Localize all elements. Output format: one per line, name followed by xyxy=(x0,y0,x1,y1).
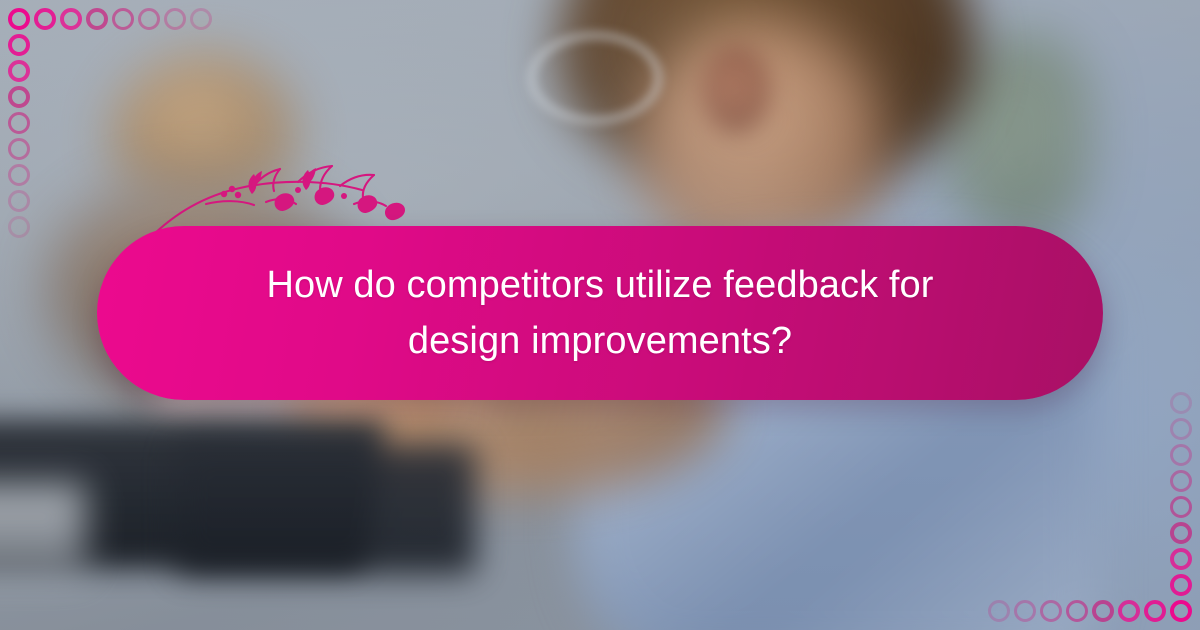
dot-ornament-circle xyxy=(1066,600,1088,622)
page-title: How do competitors utilize feedback for … xyxy=(250,257,950,369)
dot-ornament-circle xyxy=(1170,548,1192,570)
dot-ornament-circle xyxy=(988,600,1010,622)
dot-ornament-circle xyxy=(8,138,30,160)
dot-ornament-top-row xyxy=(8,8,216,30)
dot-ornament-circle xyxy=(1092,600,1114,622)
dot-ornament-circle xyxy=(8,164,30,186)
dot-ornament-circle xyxy=(1170,470,1192,492)
dot-ornament-circle xyxy=(1118,600,1140,622)
dot-ornament-circle xyxy=(8,190,30,212)
photo-laptop-second xyxy=(176,444,476,574)
dot-ornament-circle xyxy=(1170,392,1192,414)
dot-ornament-circle xyxy=(8,112,30,134)
dot-ornament-circle xyxy=(164,8,186,30)
dot-ornament-right-column xyxy=(1170,388,1192,596)
dot-ornament-circle xyxy=(34,8,56,30)
photo-man-glasses xyxy=(528,32,662,124)
dot-ornament-circle xyxy=(8,8,30,30)
dot-ornament-circle xyxy=(86,8,108,30)
dot-ornament-circle xyxy=(112,8,134,30)
photo-desk-highlight xyxy=(0,484,86,574)
dot-ornament-circle xyxy=(138,8,160,30)
dot-ornament-circle xyxy=(1170,600,1192,622)
dot-ornament-circle xyxy=(1170,574,1192,596)
dot-ornament-circle xyxy=(1170,444,1192,466)
dot-ornament-circle xyxy=(1144,600,1166,622)
headline-pill: How do competitors utilize feedback for … xyxy=(97,226,1103,400)
dot-ornament-circle xyxy=(1170,418,1192,440)
dot-ornament-left-column xyxy=(8,34,30,242)
dot-ornament-circle xyxy=(8,86,30,108)
dot-ornament-circle xyxy=(60,8,82,30)
dot-ornament-circle xyxy=(8,60,30,82)
dot-ornament-circle xyxy=(1170,522,1192,544)
dot-ornament-circle xyxy=(1040,600,1062,622)
dot-ornament-bottom-row xyxy=(984,600,1192,622)
dot-ornament-circle xyxy=(1170,496,1192,518)
photo-man-ear xyxy=(701,44,771,134)
social-card: How do competitors utilize feedback for … xyxy=(0,0,1200,630)
dot-ornament-circle xyxy=(1014,600,1036,622)
dot-ornament-circle xyxy=(190,8,212,30)
dot-ornament-circle xyxy=(8,216,30,238)
dot-ornament-circle xyxy=(8,34,30,56)
